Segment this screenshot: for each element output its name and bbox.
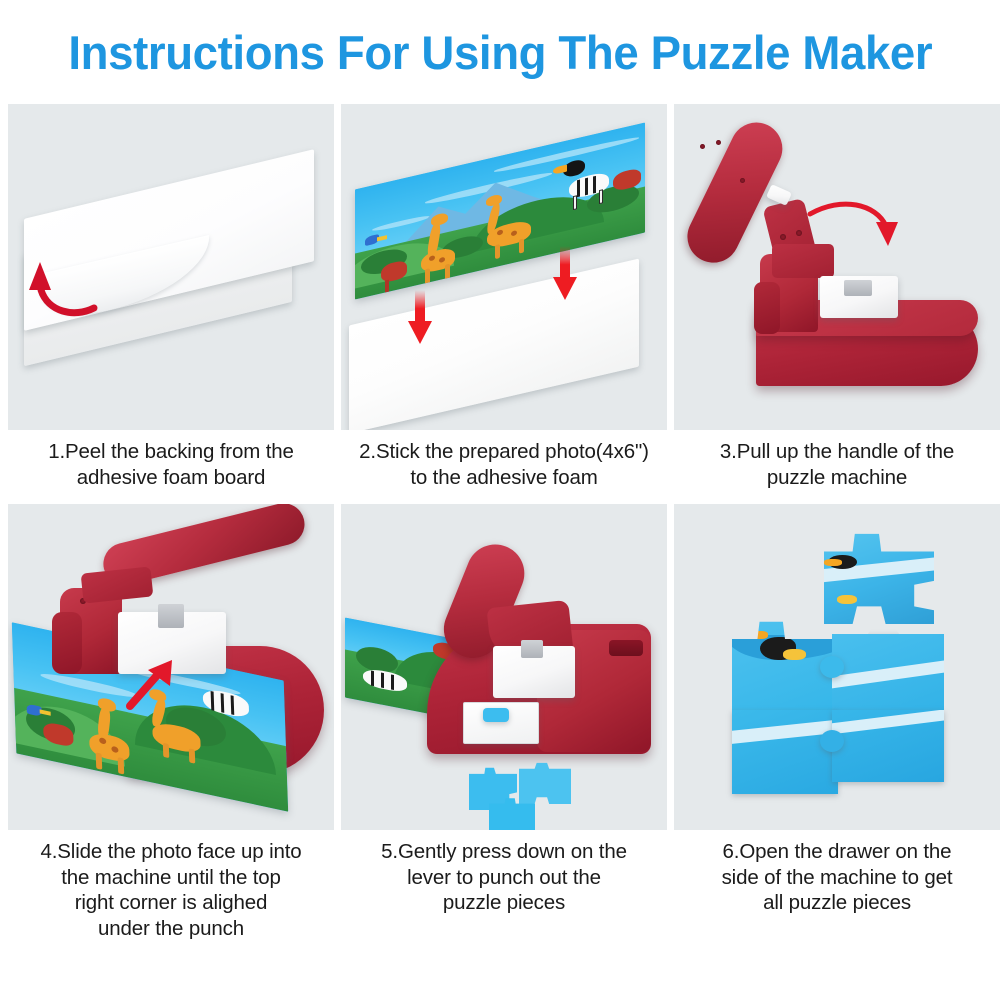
step-1-caption: 1.Peel the backing from the adhesive foa… — [8, 430, 334, 490]
puzzle-piece-assembled — [832, 710, 944, 782]
steps-row-top: 1.Peel the backing from the adhesive foa… — [8, 104, 992, 490]
step-5-image — [341, 504, 667, 830]
step-5-caption: 5.Gently press down on the lever to punc… — [341, 830, 667, 916]
puzzle-piece — [483, 708, 509, 722]
machine-side-slot — [609, 640, 643, 656]
piece-art — [824, 526, 934, 624]
puzzle-piece-loose — [824, 526, 934, 624]
piece-art — [832, 710, 944, 782]
handle-rivet — [716, 140, 721, 145]
puzzle-piece — [519, 762, 571, 804]
step-4-caption: 4.Slide the photo face up into the machi… — [8, 830, 334, 941]
steps-grid: 1.Peel the backing from the adhesive foa… — [0, 104, 1000, 941]
steps-row-bottom: 4.Slide the photo face up into the machi… — [8, 504, 992, 941]
machine-hinge-block — [81, 566, 154, 603]
step-1: 1.Peel the backing from the adhesive foa… — [8, 104, 334, 490]
puzzle-piece-assembled — [732, 710, 838, 794]
puzzle-piece-assembled — [832, 634, 944, 712]
step-5: 5.Gently press down on the lever to punc… — [341, 504, 667, 941]
piece-knob — [820, 656, 844, 678]
step-3-image — [674, 104, 1000, 430]
curved-up-left-arrow-icon — [26, 250, 108, 322]
step-3: 3.Pull up the handle of the puzzle machi… — [674, 104, 1000, 490]
arm-rivet — [796, 230, 802, 236]
photo-antelope-leg — [385, 280, 389, 293]
step-1-image — [8, 104, 334, 430]
step-2-image — [341, 104, 667, 430]
step-2: 2.Stick the prepared photo(4x6") to the … — [341, 104, 667, 490]
handle-rivet — [700, 144, 705, 149]
piece-art — [732, 710, 838, 794]
down-arrow-icon — [552, 246, 578, 302]
punch-slot — [158, 604, 184, 628]
machine-column-front — [52, 612, 82, 674]
step-6-image — [674, 504, 1000, 830]
header: Instructions For Using The Puzzle Maker — [0, 0, 1000, 104]
curved-down-right-arrow-icon — [806, 200, 898, 250]
step-3-caption: 3.Pull up the handle of the puzzle machi… — [674, 430, 1000, 490]
step-4: 4.Slide the photo face up into the machi… — [8, 504, 334, 941]
step-6: 6.Open the drawer on the side of the mac… — [674, 504, 1000, 941]
piece-knob — [820, 730, 844, 752]
up-right-arrow-icon — [122, 656, 178, 712]
handle-rivet — [740, 178, 745, 183]
punch-slot — [521, 640, 543, 658]
page-title: Instructions For Using The Puzzle Maker — [68, 25, 932, 80]
arm-rivet — [780, 234, 786, 240]
machine-column-front — [754, 282, 780, 334]
step-2-caption: 2.Stick the prepared photo(4x6") to the … — [341, 430, 667, 490]
step-4-image — [8, 504, 334, 830]
punch-slot — [844, 280, 872, 296]
down-arrow-icon — [407, 290, 433, 346]
step-6-caption: 6.Open the drawer on the side of the mac… — [674, 830, 1000, 916]
piece-art — [832, 634, 944, 712]
